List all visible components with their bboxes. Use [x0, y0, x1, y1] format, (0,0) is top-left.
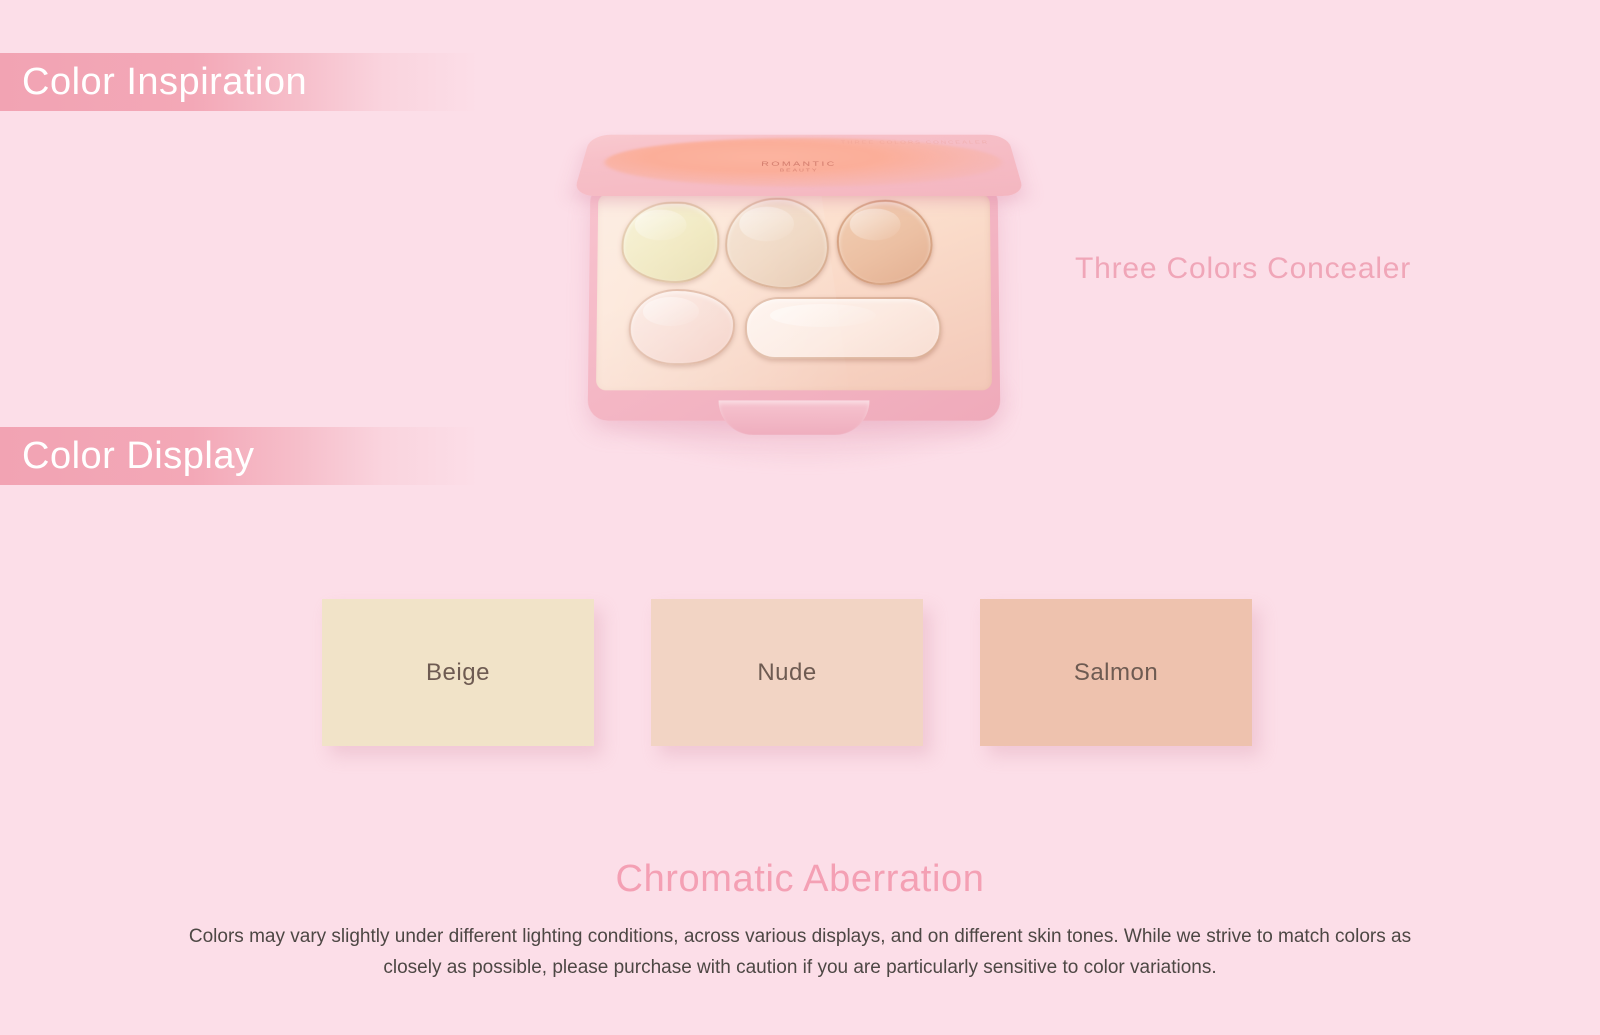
color-swatch-label: Salmon: [1074, 659, 1158, 687]
palette-tray: [596, 194, 992, 390]
color-swatch-salmon[interactable]: Salmon: [980, 599, 1252, 746]
brand-name-primary: ROMANTIC: [761, 161, 837, 168]
section-banner-label: Color Inspiration: [0, 61, 307, 104]
product-name-label: Three Colors Concealer: [1075, 252, 1411, 286]
color-swatch-label: Nude: [757, 659, 816, 687]
color-swatch-nude[interactable]: Nude: [651, 599, 923, 746]
section-banner-color-display: Color Display: [0, 427, 480, 485]
brand-logo: ROMANTIC BEAUTY: [579, 161, 1018, 174]
thumb-notch: [718, 400, 869, 434]
nude-pan: [725, 198, 829, 289]
lid-embossed-product-text: THREE COLORS CONCEALER: [841, 140, 990, 145]
palette-lid: THREE COLORS CONCEALER ROMANTIC BEAUTY: [573, 135, 1025, 196]
brand-name-secondary: BEAUTY: [579, 169, 1018, 174]
chromatic-aberration-disclaimer: Colors may vary slightly under different…: [185, 922, 1415, 984]
product-hero-image: THREE COLORS CONCEALER ROMANTIC BEAUTY: [565, 80, 1045, 425]
section-banner-label: Color Display: [0, 435, 254, 478]
blush-pan: [628, 289, 735, 365]
salmon-pan: [837, 200, 933, 285]
chromatic-aberration-title: Chromatic Aberration: [0, 858, 1600, 901]
concealer-palette-case: [588, 186, 1001, 421]
color-swatch-beige[interactable]: Beige: [322, 599, 594, 746]
section-banner-color-inspiration: Color Inspiration: [0, 53, 480, 111]
highlight-pan: [745, 297, 942, 359]
color-swatch-label: Beige: [426, 659, 490, 687]
color-swatch-row: Beige Nude Salmon: [322, 599, 1252, 746]
beige-pan: [621, 202, 719, 283]
